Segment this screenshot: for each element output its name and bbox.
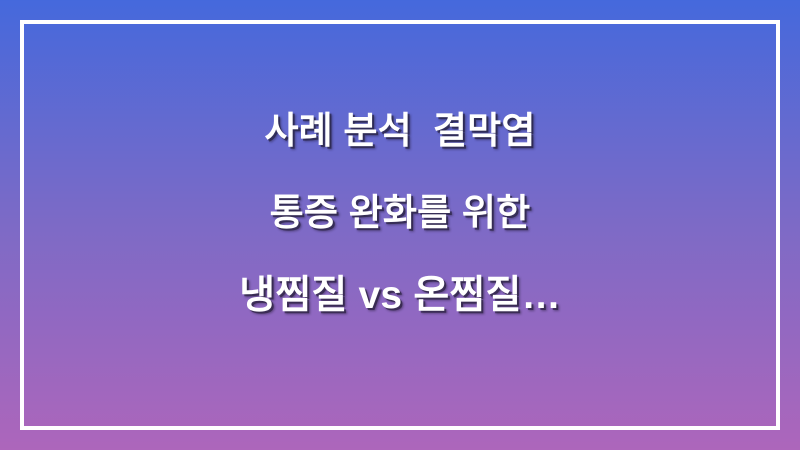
title-text-block: 사례 분석 결막염 통증 완화를 위한 냉찜질 vs 온찜질… <box>0 112 800 315</box>
title-line-1: 사례 분석 결막염 <box>0 112 800 149</box>
title-card: 사례 분석 결막염 통증 완화를 위한 냉찜질 vs 온찜질… <box>0 0 800 450</box>
title-line-3: 냉찜질 vs 온찜질… <box>0 276 800 315</box>
title-line-2: 통증 완화를 위한 <box>0 194 800 231</box>
